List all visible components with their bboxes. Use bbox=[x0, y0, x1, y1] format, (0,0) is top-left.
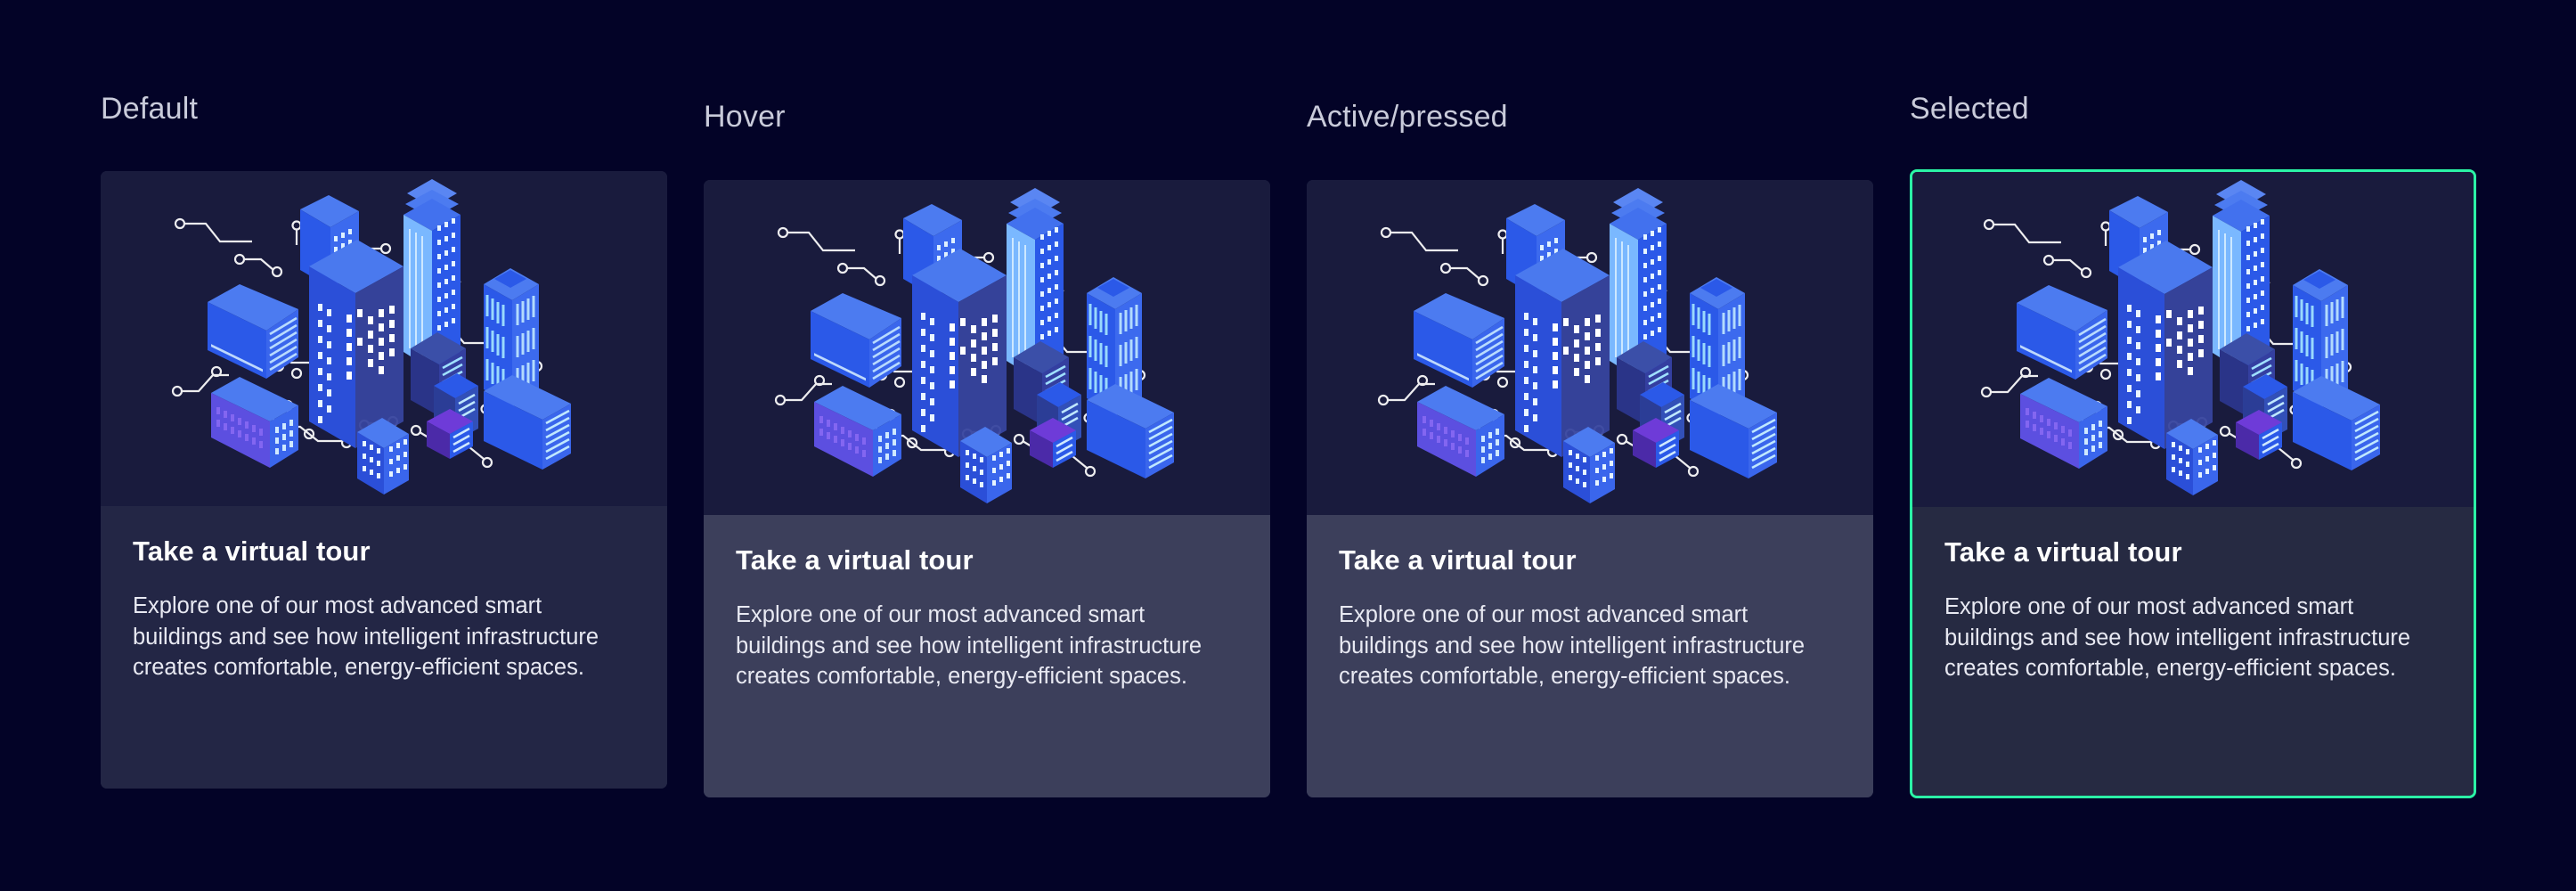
card-title: Take a virtual tour bbox=[1944, 507, 2441, 568]
isometric-smart-city-illustration bbox=[746, 183, 1227, 512]
card-hover[interactable]: Take a virtual tour Explore one of our m… bbox=[704, 180, 1270, 797]
card-body-hover: Take a virtual tour Explore one of our m… bbox=[704, 515, 1270, 797]
states-showcase: Default bbox=[0, 0, 2576, 891]
card-description: Explore one of our most advanced smart b… bbox=[133, 568, 632, 683]
card-default[interactable]: Take a virtual tour Explore one of our m… bbox=[101, 171, 667, 789]
card-body-default: Take a virtual tour Explore one of our m… bbox=[101, 506, 667, 789]
isometric-smart-city-illustration bbox=[143, 174, 624, 503]
card-description: Explore one of our most advanced smart b… bbox=[1339, 576, 1838, 692]
card-active[interactable]: Take a virtual tour Explore one of our m… bbox=[1307, 180, 1873, 797]
card-media-default bbox=[101, 171, 667, 506]
state-label-default: Default bbox=[101, 92, 198, 127]
card-selected[interactable]: Take a virtual tour Explore one of our m… bbox=[1910, 169, 2476, 798]
state-label-selected: Selected bbox=[1910, 92, 2029, 127]
card-title: Take a virtual tour bbox=[736, 515, 1238, 576]
card-description: Explore one of our most advanced smart b… bbox=[736, 576, 1235, 692]
isometric-smart-city-illustration bbox=[1349, 183, 1830, 512]
card-body-active: Take a virtual tour Explore one of our m… bbox=[1307, 515, 1873, 797]
card-media-hover bbox=[704, 180, 1270, 515]
state-label-active: Active/pressed bbox=[1307, 100, 1508, 135]
state-label-hover: Hover bbox=[704, 100, 786, 135]
card-body-selected: Take a virtual tour Explore one of our m… bbox=[1912, 507, 2474, 796]
card-media-selected bbox=[1912, 172, 2474, 507]
card-description: Explore one of our most advanced smart b… bbox=[1944, 568, 2441, 684]
card-media-active bbox=[1307, 180, 1873, 515]
isometric-smart-city-illustration bbox=[1952, 175, 2433, 504]
card-title: Take a virtual tour bbox=[133, 506, 635, 568]
card-title: Take a virtual tour bbox=[1339, 515, 1841, 576]
